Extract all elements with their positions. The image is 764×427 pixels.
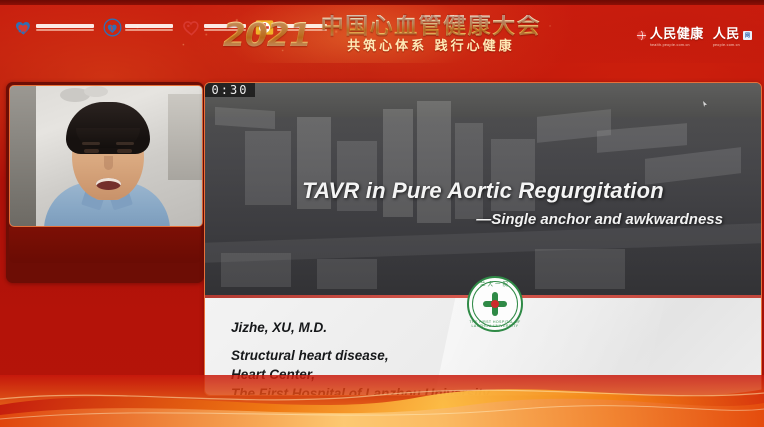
media-logo-glyph: 人民健康 — [650, 27, 704, 42]
speaker-eyebrow-right — [116, 142, 134, 145]
video-panel-filler — [9, 227, 201, 263]
speaker-nose — [104, 156, 113, 170]
media-logo-url: people.com.cn — [713, 43, 740, 47]
bottom-wave-decoration — [0, 375, 764, 427]
conference-banner: 2021 中国心血管健康大会 共筑心体系 践行心健康 人民健康 health.p… — [0, 5, 764, 63]
speaker-eyebrow-left — [82, 142, 100, 145]
emblem-text-en: THE FIRST HOSPITAL OF LANZHOU UNIVERSITY — [467, 320, 523, 328]
media-logo-text: 人民 people.com.cn — [713, 23, 740, 47]
media-logo-peoples-daily-online: 人民 people.com.cn 网 — [713, 23, 752, 47]
conference-stream-screen: 2021 中国心血管健康大会 共筑心体系 践行心健康 人民健康 health.p… — [0, 0, 764, 427]
media-logo-text: 人民健康 health.people.com.cn — [650, 23, 704, 47]
affiliation-line-1: Structural heart disease, — [231, 346, 490, 365]
speaker-name: Jizhe, XU, M.D. — [231, 320, 327, 335]
speaker-eye-left — [84, 149, 99, 153]
presentation-slide-panel[interactable]: 0:30 TAVR in Pure Aortic Regurgitation —… — [204, 82, 762, 396]
globe-icon — [636, 30, 647, 41]
video-ceiling-lamp-b — [84, 86, 108, 97]
emblem-text-cn: 兰大一院 — [467, 280, 523, 288]
media-logo-tag: 网 — [743, 31, 752, 40]
speaker-mouth — [96, 178, 121, 190]
emblem-center-dot — [491, 300, 499, 308]
speaker-video-panel[interactable] — [6, 82, 204, 283]
conference-year: 2021 — [223, 15, 311, 54]
slide-title: TAVR in Pure Aortic Regurgitation — [205, 178, 761, 204]
video-wall-left — [10, 86, 36, 226]
slide-subtitle: —Single anchor and awkwardness — [476, 211, 723, 228]
conference-name-block: 中国心血管健康大会 共筑心体系 践行心健康 — [321, 15, 542, 53]
hospital-emblem-icon: 兰大一院 THE FIRST HOSPITAL OF LANZHOU UNIVE… — [467, 276, 523, 332]
media-logo-glyph: 人民 — [713, 27, 740, 42]
session-timer: 0:30 — [205, 83, 255, 97]
speaker-eye-right — [117, 149, 132, 153]
conference-slogan-cn: 共筑心体系 践行心健康 — [347, 40, 515, 53]
conference-title-cn: 中国心血管健康大会 — [321, 15, 542, 38]
media-logo-peoples-health: 人民健康 health.people.com.cn — [636, 23, 704, 47]
speaker-video-feed[interactable] — [9, 85, 203, 227]
video-wall-right — [168, 94, 202, 180]
media-logo-strip: 人民健康 health.people.com.cn 人民 people.com.… — [636, 23, 752, 47]
wave-graphic — [0, 375, 764, 427]
media-logo-url: health.people.com.cn — [650, 43, 704, 47]
